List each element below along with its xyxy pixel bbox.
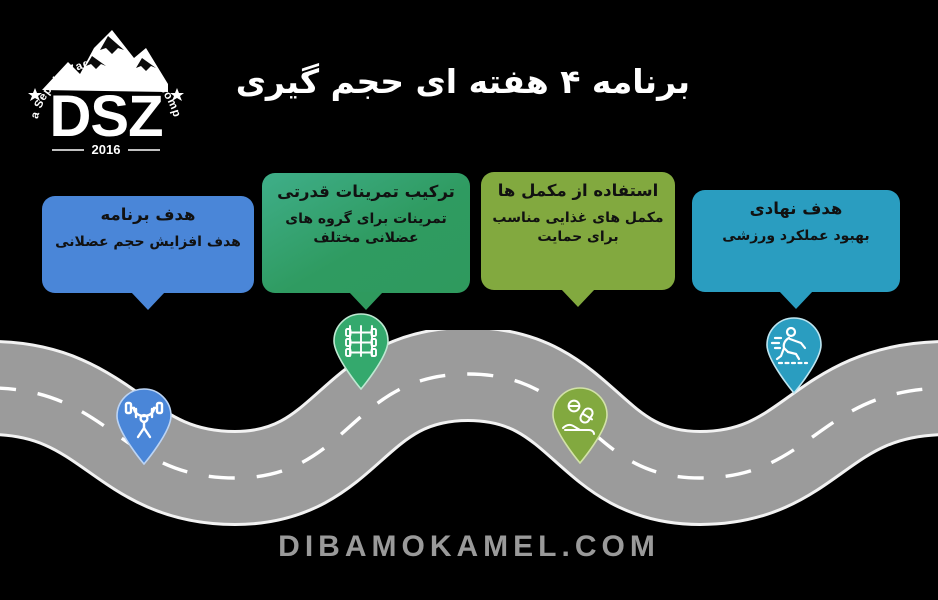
info-card-program-goal[interactable]: هدف برنامه هدف افزایش حجم عضلانی: [42, 196, 254, 293]
logo-monogram: DSZ: [50, 84, 163, 149]
card-pointer: [561, 289, 595, 307]
map-pin-running-athlete[interactable]: [763, 316, 825, 394]
card-title: ترکیب تمرینات قدرتی: [270, 182, 462, 203]
info-card-strength-training[interactable]: ترکیب تمرینات قدرتی تمرینات برای گروه ها…: [262, 173, 470, 293]
dsz-logo: Diba Sepehr Zagros Trading Company DSZ 2…: [16, 14, 196, 164]
card-subtitle: مکمل های غذایی مناسب برای حمایت: [489, 209, 667, 247]
info-card-final-goal[interactable]: هدف نهادی بهبود عملکرد ورزشی: [692, 190, 900, 292]
logo-year: 2016: [92, 142, 121, 157]
website-url[interactable]: DIBAMOKAMEL.COM: [0, 530, 938, 564]
card-title: هدف برنامه: [50, 205, 246, 226]
card-title: استفاده از مکمل ها: [489, 181, 667, 202]
card-pointer: [779, 291, 813, 309]
page-title: برنامه ۴ هفته ای حجم گیری: [250, 62, 690, 101]
card-subtitle: بهبود عملکرد ورزشی: [700, 227, 892, 246]
dumbbell-rack-icon: [346, 326, 376, 356]
card-pointer: [131, 292, 165, 310]
card-subtitle: هدف افزایش حجم عضلانی: [50, 233, 246, 252]
card-subtitle: تمرینات برای گروه های عضلانی مختلف: [270, 210, 462, 248]
mountain-icon: [42, 30, 168, 92]
map-pin-weightlifter[interactable]: [113, 387, 175, 465]
card-title: هدف نهادی: [700, 199, 892, 220]
card-pointer: [349, 292, 383, 310]
map-pin-supplements[interactable]: [549, 386, 611, 464]
info-card-supplements[interactable]: استفاده از مکمل ها مکمل های غذایی مناسب …: [481, 172, 675, 290]
map-pin-dumbbell-rack[interactable]: [330, 312, 392, 390]
star-left-icon: [28, 88, 42, 101]
infographic-canvas: Diba Sepehr Zagros Trading Company DSZ 2…: [0, 0, 938, 600]
